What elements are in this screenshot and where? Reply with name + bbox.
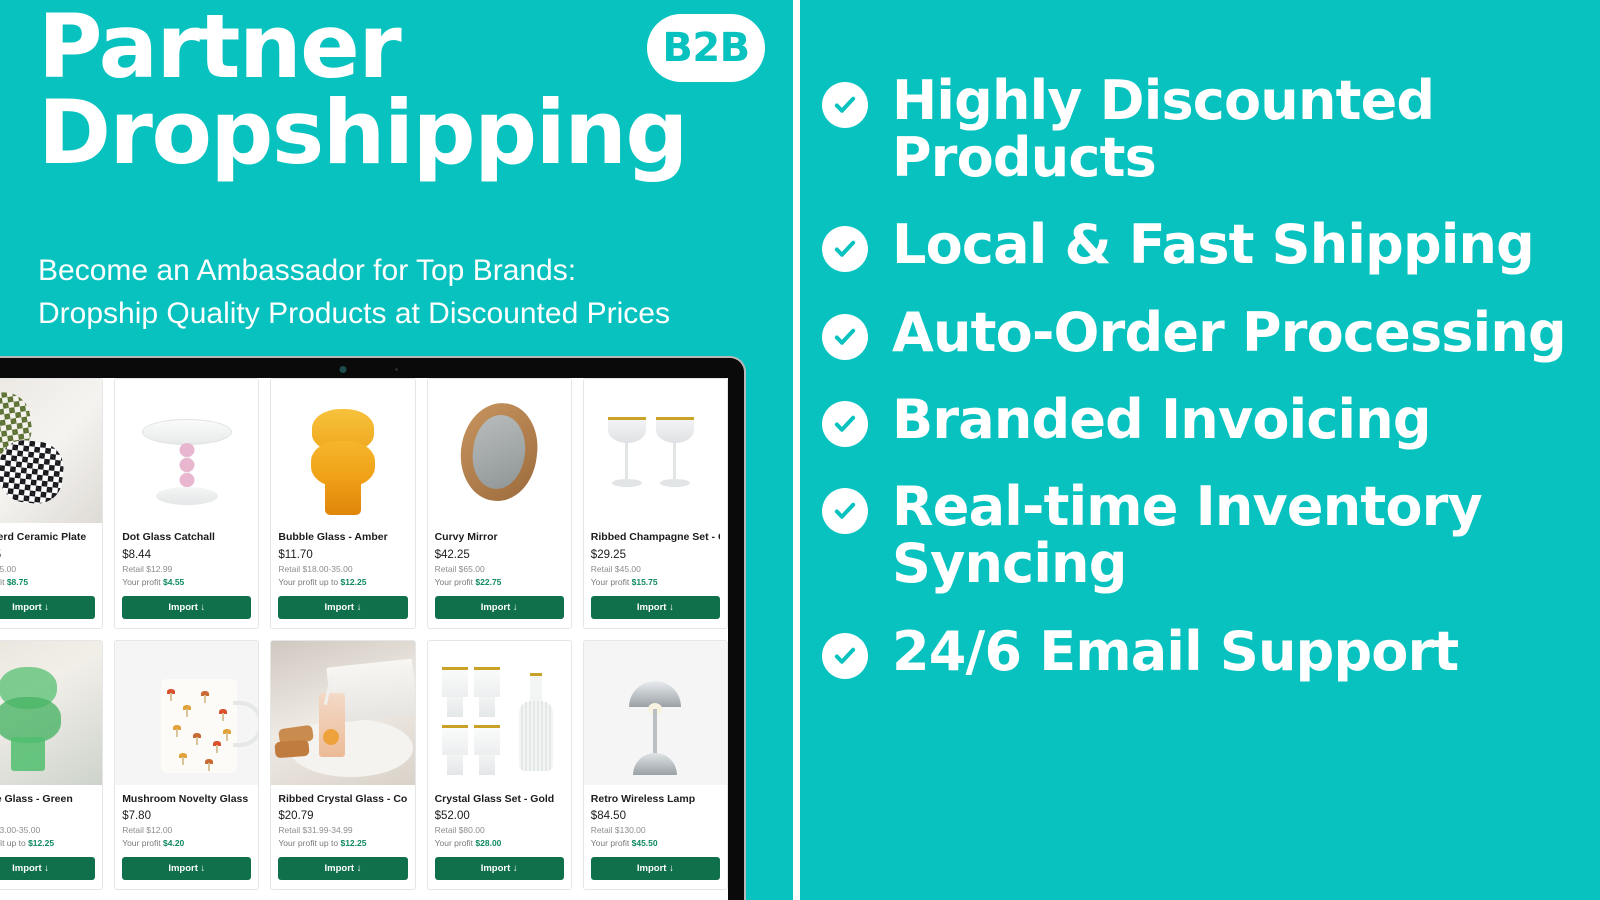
page-subtitle-line-1: Become an Ambassador for Top Brands: <box>38 250 778 293</box>
glass-foot <box>156 487 218 505</box>
check-circle-icon <box>822 488 868 534</box>
product-price: $16.25 <box>0 549 95 561</box>
product-profit: Your profit up to $12.25 <box>278 838 407 848</box>
product-profit: Your profit $28.00 <box>435 838 564 848</box>
product-image <box>271 641 414 785</box>
product-image <box>428 379 571 523</box>
feature-item-highly-discounted-products: Highly Discounted Products <box>822 72 1570 186</box>
product-profit: Your profit up to $12.25 <box>0 838 95 848</box>
product-card[interactable]: Ribbed Crystal Glass - Colors $20.79 Ret… <box>270 640 415 891</box>
product-profit: Your profit $22.75 <box>435 577 564 587</box>
product-retail-price: Retail $18.00-35.00 <box>278 564 407 574</box>
gold-rim-tumbler-icon <box>442 725 468 775</box>
import-button[interactable]: Import ↓ <box>0 857 95 880</box>
product-retail-price: Retail $65.00 <box>435 564 564 574</box>
pink-bead-icon <box>179 443 194 457</box>
import-button[interactable]: Import ↓ <box>278 857 407 880</box>
product-price: $11.70 <box>278 549 407 561</box>
product-image <box>115 641 258 785</box>
product-title: Mushroom Novelty Glass <box>122 793 251 806</box>
product-retail-price: Retail $25.00 <box>0 564 95 574</box>
page-subtitle-line-2: Dropship Quality Products at Discounted … <box>38 293 778 336</box>
import-button[interactable]: Import ↓ <box>435 596 564 619</box>
laptop-mockup: Checkerd Ceramic Plate $16.25 Retail $25… <box>0 356 746 900</box>
lamp-base-icon <box>633 753 677 775</box>
feature-label: Highly Discounted Products <box>892 72 1570 186</box>
lamp-stem-icon <box>653 709 657 757</box>
feature-list: Highly Discounted Products Local & Fast … <box>822 72 1570 680</box>
check-circle-icon <box>822 633 868 679</box>
b2b-badge-label: B2B <box>662 25 749 71</box>
feature-item-real-time-inventory-syncing: Real-time Inventory Syncing <box>822 478 1570 592</box>
mug-handle-icon <box>233 701 258 747</box>
check-circle-icon <box>822 82 868 128</box>
product-image <box>0 379 102 523</box>
product-profit: Your profit up to $12.25 <box>278 577 407 587</box>
product-grid: Checkerd Ceramic Plate $16.25 Retail $25… <box>0 378 728 890</box>
feature-item-branded-invoicing: Branded Invoicing <box>822 391 1570 448</box>
black-checkered-plate-icon <box>0 438 66 506</box>
product-title: Curvy Mirror <box>435 531 564 544</box>
page-title-line-2: Dropshipping <box>38 90 638 176</box>
import-button[interactable]: Import ↓ <box>122 596 251 619</box>
product-title: Ribbed Crystal Glass - Colors <box>278 793 407 806</box>
product-image <box>0 641 102 785</box>
product-retail-price: Retail $12.99 <box>122 564 251 574</box>
product-retail-price: Retail $12.00 <box>122 825 251 835</box>
laptop-screen: Checkerd Ceramic Plate $16.25 Retail $25… <box>0 378 728 900</box>
left-panel: B2B Partner Dropshipping Become an Ambas… <box>0 0 793 900</box>
product-price: $20.79 <box>278 810 407 822</box>
champagne-coupe-icon <box>608 417 646 495</box>
product-profit: Your profit $4.55 <box>122 577 251 587</box>
pink-bead-icon <box>179 458 194 472</box>
import-button[interactable]: Import ↓ <box>591 596 720 619</box>
page-title-line-1: Partner <box>38 4 638 90</box>
green-glass-base-icon <box>11 737 45 771</box>
gold-rim-tumbler-icon <box>474 667 500 717</box>
feature-item-local-fast-shipping: Local & Fast Shipping <box>822 216 1570 273</box>
product-price: $7.80 <box>122 810 251 822</box>
product-price: $8.44 <box>122 549 251 561</box>
webcam-icon <box>340 366 347 373</box>
feature-item-24-6-email-support: 24/6 Email Support <box>822 623 1570 680</box>
check-circle-icon <box>822 314 868 360</box>
product-card[interactable]: Ribbed Champagne Set - Gold $29.25 Retai… <box>583 378 728 629</box>
gold-rim-tumbler-icon <box>474 725 500 775</box>
product-profit: Your profit $45.50 <box>591 838 720 848</box>
product-profit: Your profit $4.20 <box>122 838 251 848</box>
feature-item-auto-order-processing: Auto-Order Processing <box>822 304 1570 361</box>
green-glass-mid-icon <box>0 697 61 743</box>
product-title: Bubble Glass - Amber <box>278 531 407 544</box>
product-title: Crystal Glass Set - Gold <box>435 793 564 806</box>
product-card[interactable]: Curvy Mirror $42.25 Retail $65.00 Your p… <box>427 378 572 629</box>
product-retail-price: Retail $13.00-35.00 <box>0 825 95 835</box>
mushroom-mug-icon <box>161 679 237 773</box>
feature-label: Real-time Inventory Syncing <box>892 478 1570 592</box>
product-card[interactable]: Crystal Glass Set - Gold $52.00 Retail $… <box>427 640 572 891</box>
panel-divider <box>793 0 800 900</box>
check-circle-icon <box>822 401 868 447</box>
product-title: Bubble Glass - Green <box>0 793 95 806</box>
product-retail-price: Retail $80.00 <box>435 825 564 835</box>
amber-glass-base-icon <box>325 479 361 515</box>
product-image <box>584 379 727 523</box>
import-button[interactable]: Import ↓ <box>122 857 251 880</box>
product-card[interactable]: Dot Glass Catchall $8.44 Retail $12.99 Y… <box>114 378 259 629</box>
import-button[interactable]: Import ↓ <box>278 596 407 619</box>
product-profit: Your profit $15.75 <box>591 577 720 587</box>
product-retail-price: Retail $31.99-34.99 <box>278 825 407 835</box>
product-image <box>584 641 727 785</box>
feature-label: Branded Invoicing <box>892 391 1431 448</box>
ribbed-carafe-icon <box>519 673 553 771</box>
orange-slice-icon <box>323 729 339 745</box>
product-card[interactable]: Checkerd Ceramic Plate $16.25 Retail $25… <box>0 378 103 629</box>
pink-bead-icon <box>179 473 194 487</box>
import-button[interactable]: Import ↓ <box>0 596 95 619</box>
import-button[interactable]: Import ↓ <box>435 857 564 880</box>
product-image <box>115 379 258 523</box>
product-title: Ribbed Champagne Set - Gold <box>591 531 720 544</box>
product-title: Dot Glass Catchall <box>122 531 251 544</box>
feature-label: Local & Fast Shipping <box>892 216 1534 273</box>
product-price: $84.50 <box>591 810 720 822</box>
webcam-sensor-icon <box>395 368 398 371</box>
feature-label: 24/6 Email Support <box>892 623 1458 680</box>
toast-icon <box>275 739 310 757</box>
product-title: Retro Wireless Lamp <box>591 793 720 806</box>
product-title: Checkerd Ceramic Plate <box>0 531 95 544</box>
product-price: $52.00 <box>435 810 564 822</box>
product-image <box>271 379 414 523</box>
product-price: $42.25 <box>435 549 564 561</box>
b2b-badge: B2B <box>647 14 765 82</box>
promo-banner: B2B Partner Dropshipping Become an Ambas… <box>0 0 1600 900</box>
feature-label: Auto-Order Processing <box>892 304 1566 361</box>
product-price: $29.25 <box>591 549 720 561</box>
page-subtitle: Become an Ambassador for Top Brands: Dro… <box>38 250 778 335</box>
product-card[interactable]: Bubble Glass - Green $8.45 Retail $13.00… <box>0 640 103 891</box>
right-panel: Highly Discounted Products Local & Fast … <box>800 0 1600 900</box>
product-image <box>428 641 571 785</box>
import-button[interactable]: Import ↓ <box>591 857 720 880</box>
product-retail-price: Retail $130.00 <box>591 825 720 835</box>
check-circle-icon <box>822 226 868 272</box>
product-card[interactable]: Retro Wireless Lamp $84.50 Retail $130.0… <box>583 640 728 891</box>
product-price: $8.45 <box>0 810 95 822</box>
page-title: Partner Dropshipping <box>38 4 638 176</box>
product-card[interactable]: Mushroom Novelty Glass $7.80 Retail $12.… <box>114 640 259 891</box>
product-retail-price: Retail $45.00 <box>591 564 720 574</box>
product-card[interactable]: Bubble Glass - Amber $11.70 Retail $18.0… <box>270 378 415 629</box>
champagne-coupe-icon <box>656 417 694 495</box>
product-profit: Your profit $8.75 <box>0 577 95 587</box>
gold-rim-tumbler-icon <box>442 667 468 717</box>
